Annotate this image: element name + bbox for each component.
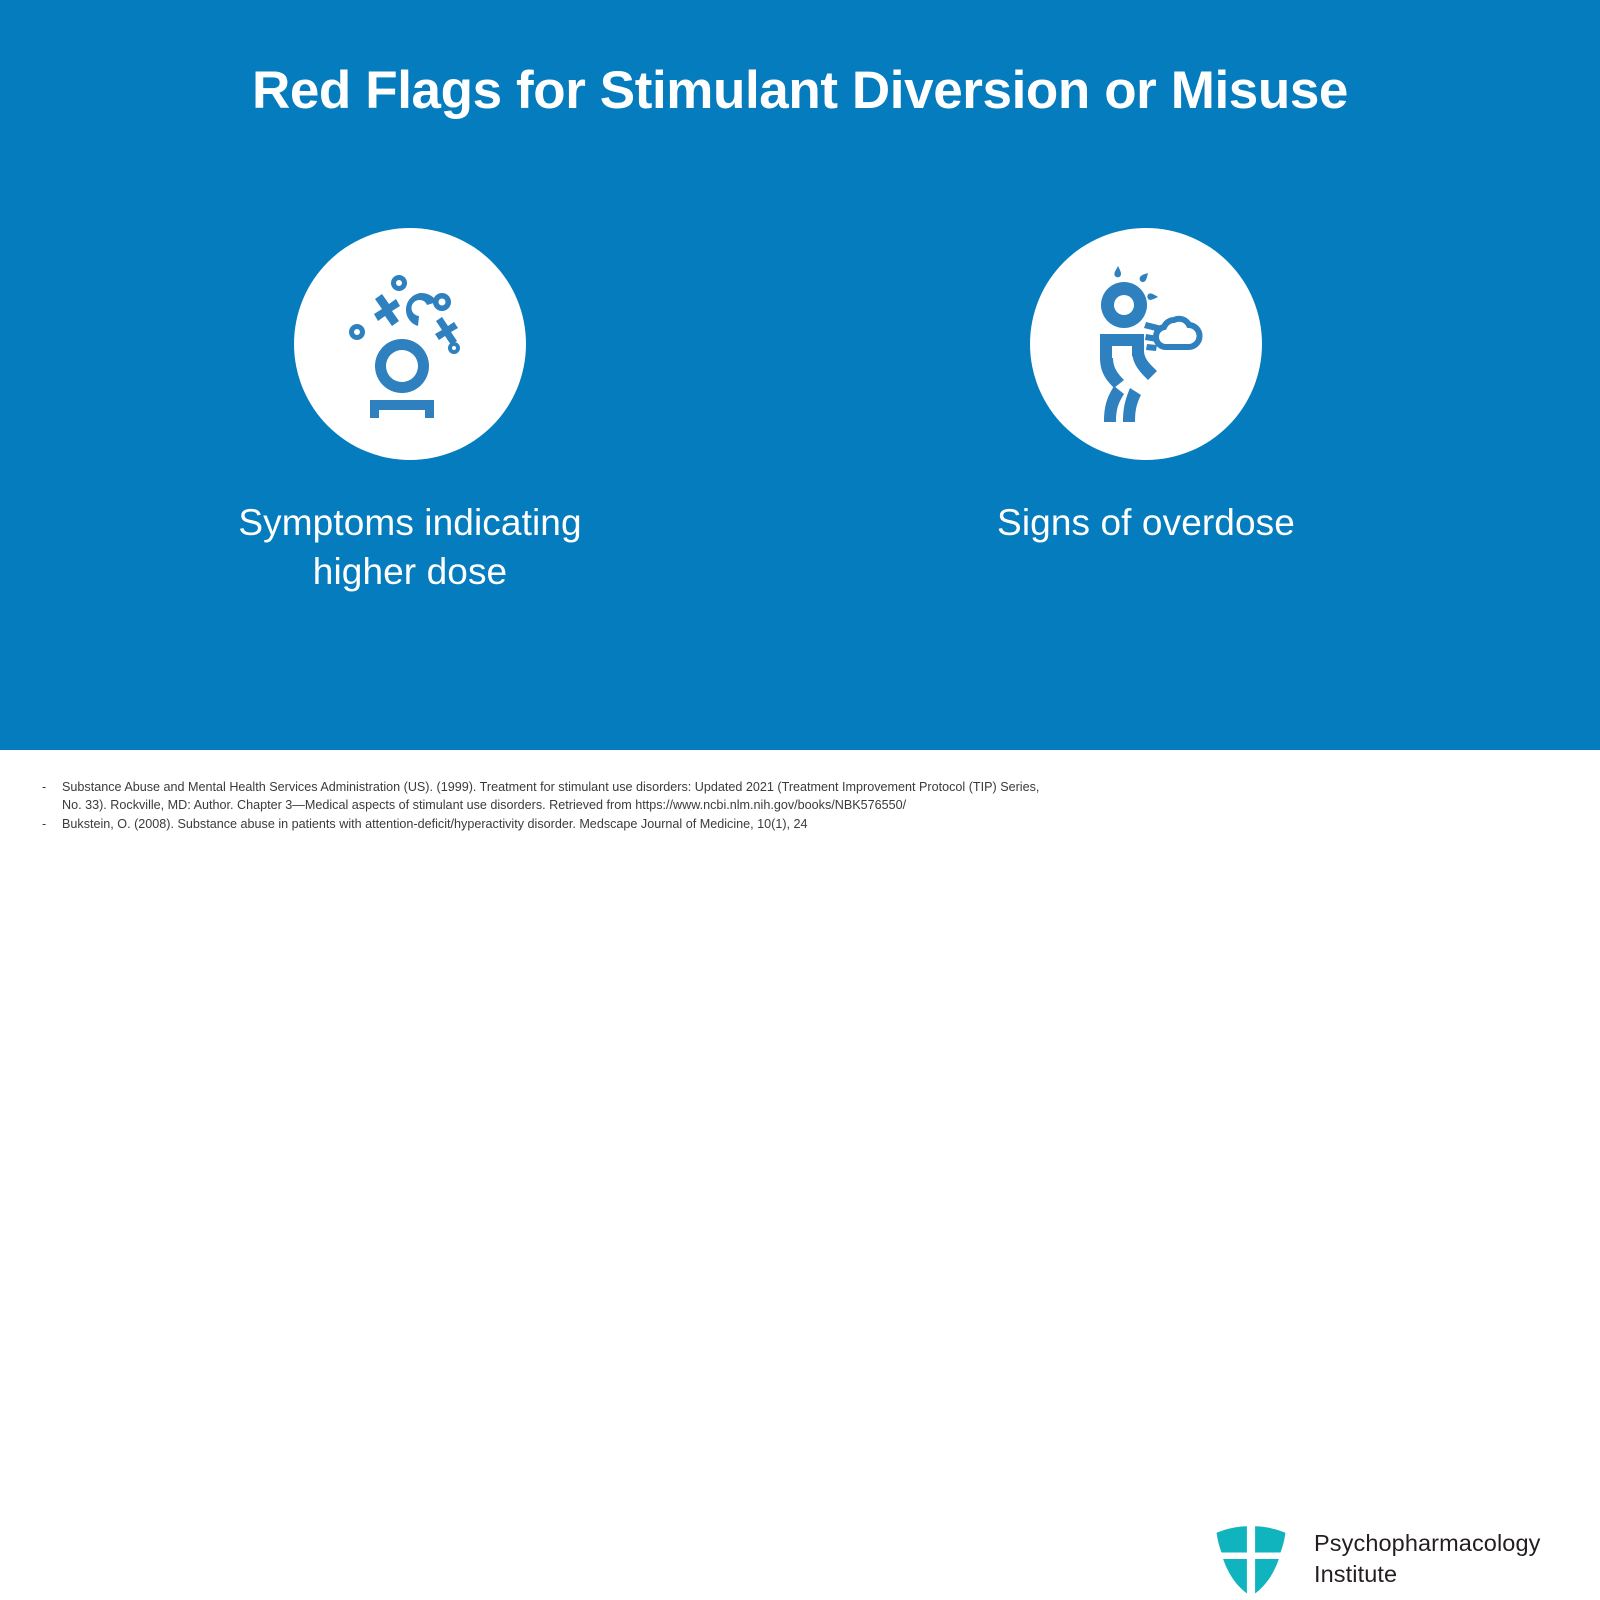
slide-body-panel: Red Flags for Stimulant Diversion or Mis…	[0, 0, 1600, 750]
brand-name-line1: Psychopharmacology	[1314, 1528, 1540, 1559]
reference-item: - Bukstein, O. (2008). Substance abuse i…	[42, 815, 1052, 833]
brand-logo: Psychopharmacology Institute	[1210, 1518, 1540, 1600]
shield-icon	[1210, 1518, 1292, 1600]
bullet-marker: -	[42, 815, 62, 833]
icon-badge	[1030, 228, 1262, 460]
concept-caption: Symptoms indicating higher dose	[175, 498, 645, 596]
concept-item-overdose: Signs of overdose	[911, 228, 1381, 547]
concept-item-symptoms: Symptoms indicating higher dose	[175, 228, 645, 596]
reference-list: - Substance Abuse and Mental Health Serv…	[42, 778, 1052, 833]
brand-name: Psychopharmacology Institute	[1314, 1528, 1540, 1590]
confused-person-icon	[344, 269, 476, 419]
footer: - Substance Abuse and Mental Health Serv…	[0, 750, 1600, 899]
bullet-marker: -	[42, 778, 62, 796]
icon-badge	[294, 228, 526, 460]
overdose-person-icon	[1086, 264, 1206, 424]
reference-item: - Substance Abuse and Mental Health Serv…	[42, 778, 1052, 815]
reference-text: Bukstein, O. (2008). Substance abuse in …	[62, 815, 1052, 833]
page-title: Red Flags for Stimulant Diversion or Mis…	[0, 63, 1600, 119]
brand-name-line2: Institute	[1314, 1559, 1540, 1590]
slide: Red Flags for Stimulant Diversion or Mis…	[0, 0, 1600, 899]
concept-caption: Signs of overdose	[911, 498, 1381, 547]
concept-columns: Symptoms indicating higher dose	[0, 228, 1600, 628]
reference-text: Substance Abuse and Mental Health Servic…	[62, 778, 1052, 815]
